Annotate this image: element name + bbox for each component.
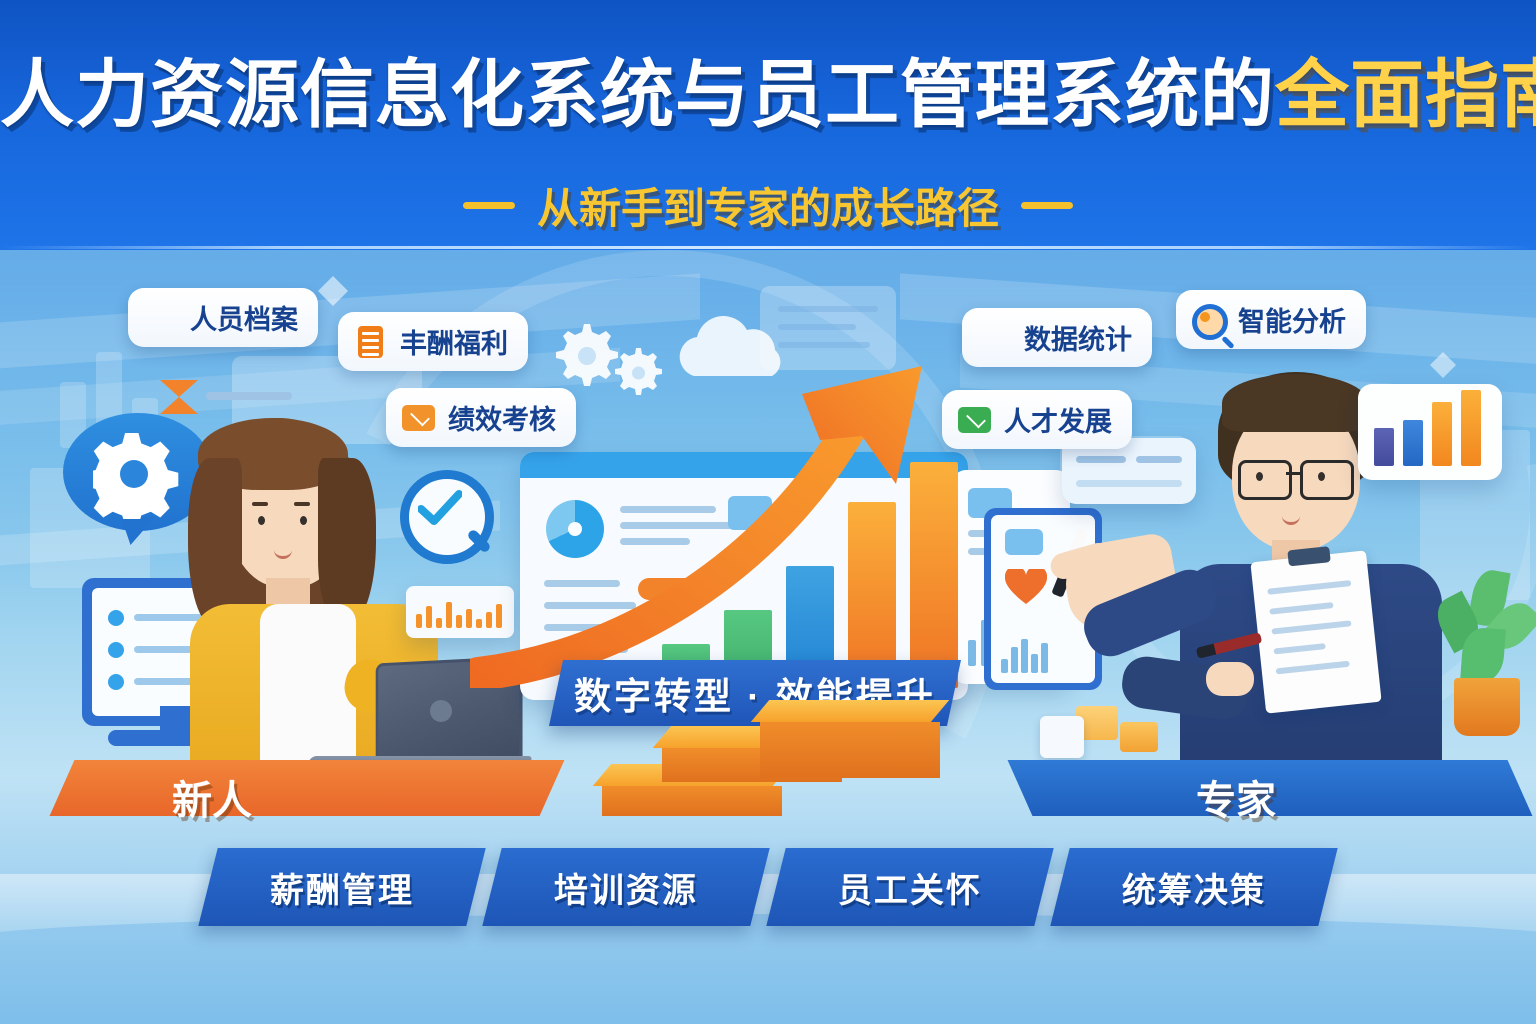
glasses-bridge	[1286, 472, 1300, 475]
badge-personnel-file[interactable]: 人员档案	[128, 288, 318, 347]
glasses-right	[1300, 460, 1354, 500]
hand	[1206, 662, 1254, 696]
header-divider	[0, 246, 1536, 249]
title-block: 人力资源信息化系统与员工管理系统的全面指南	[0, 58, 1536, 132]
floor-band	[0, 914, 1536, 1024]
bar	[476, 619, 482, 628]
hair-top	[1222, 374, 1368, 432]
tablet-chart	[1001, 639, 1048, 673]
bar	[1403, 420, 1423, 466]
step-front	[602, 786, 782, 816]
list-dot	[108, 642, 124, 658]
eye	[258, 516, 265, 525]
plant-icon	[1432, 570, 1536, 770]
bottom-tag-row: 薪酬管理 培训资源 员工关怀 统筹决策	[0, 848, 1536, 926]
bg-ghost-line	[778, 306, 878, 312]
check-icon	[418, 490, 462, 528]
glasses-left	[1238, 460, 1292, 500]
tag-strategic-decision[interactable]: 统筹决策	[1050, 848, 1337, 926]
mini-chart-card	[406, 586, 514, 638]
bar	[466, 609, 472, 628]
bar	[426, 606, 432, 628]
check-magnifier-icon	[400, 470, 492, 562]
page-subtitle: 从新手到专家的成长路径	[537, 175, 999, 236]
clipboard-line	[1273, 643, 1325, 654]
list-dot	[108, 674, 124, 690]
bar	[1374, 428, 1394, 466]
tag-label: 员工关怀	[838, 863, 982, 912]
badge-performance[interactable]: 绩效考核	[386, 388, 576, 447]
form-line	[1136, 456, 1182, 463]
badge-label: 人才发展	[1004, 400, 1112, 439]
eye	[1256, 472, 1263, 481]
chart-bar	[910, 462, 958, 688]
step-front	[760, 722, 940, 778]
tablet-chip	[1005, 529, 1043, 555]
dash-left-decor	[463, 202, 515, 209]
badge-label: 丰酬福利	[400, 322, 508, 361]
building-icon	[352, 324, 388, 360]
bar	[968, 640, 976, 666]
step-top	[751, 700, 949, 722]
bar	[1001, 659, 1008, 673]
bg-ghost-line	[778, 342, 870, 348]
novice-platform	[50, 760, 565, 816]
puzzle-icon	[1040, 716, 1084, 758]
pie-chart-icon	[546, 500, 604, 558]
badge-smart-analysis[interactable]: 智能分析	[1176, 290, 1366, 349]
bar	[416, 614, 422, 628]
clipboard-line	[1271, 620, 1351, 634]
cube-decor	[1120, 722, 1158, 752]
clipboard-line	[1267, 580, 1351, 595]
bar	[436, 618, 442, 628]
infographic-poster: 人力资源信息化系统与员工管理系统的全面指南 从新手到专家的成长路径	[0, 0, 1536, 1024]
envelope-icon	[956, 402, 992, 438]
envelope-icon	[400, 400, 436, 436]
tag-label: 培训资源	[554, 863, 698, 912]
badge-label: 数据统计	[1024, 318, 1132, 357]
bar	[1432, 402, 1452, 466]
badge-compensation[interactable]: 丰酬福利	[338, 312, 528, 371]
subtitle-row: 从新手到专家的成长路径	[463, 175, 1073, 236]
badge-statistics[interactable]: 数据统计	[962, 308, 1152, 367]
mini-chart-bars	[416, 602, 502, 628]
bar	[1461, 390, 1481, 466]
plant-pot	[1454, 678, 1520, 736]
tag-training-resources[interactable]: 培训资源	[482, 848, 769, 926]
person-icon	[142, 300, 178, 336]
bar	[496, 604, 502, 628]
bar	[1021, 639, 1028, 673]
tag-label: 统筹决策	[1122, 863, 1266, 912]
page-title: 人力资源信息化系统与员工管理系统的全面指南	[0, 58, 1536, 132]
laptop-logo	[430, 700, 452, 722]
tag-employee-care[interactable]: 员工关怀	[766, 848, 1053, 926]
badge-talent-development[interactable]: 人才发展	[942, 390, 1132, 449]
bar	[456, 615, 462, 628]
title-highlight-text: 全面指南	[1275, 53, 1536, 136]
badge-label: 绩效考核	[448, 398, 556, 437]
bar	[1011, 647, 1018, 673]
staircase-step	[760, 700, 940, 722]
eye	[1318, 472, 1325, 481]
clipboard-icon	[1250, 550, 1381, 713]
form-line	[1076, 456, 1126, 463]
bar	[1041, 643, 1048, 673]
badge-label: 人员档案	[190, 298, 298, 337]
hair-side	[318, 458, 376, 626]
eye	[300, 516, 307, 525]
bar	[1031, 654, 1038, 673]
side-chart-bars	[1374, 390, 1481, 466]
tag-salary-management[interactable]: 薪酬管理	[198, 848, 485, 926]
eyebrow	[294, 502, 310, 506]
badge-label: 智能分析	[1238, 300, 1346, 339]
bg-ghost-line	[778, 324, 856, 330]
novice-label: 新人	[172, 768, 252, 826]
clipboard-clip	[1287, 546, 1330, 566]
eyebrow	[252, 502, 268, 506]
title-main-text: 人力资源信息化系统与员工管理系统的	[0, 53, 1275, 136]
person-icon	[976, 320, 1012, 356]
side-chart-card	[1358, 384, 1502, 480]
magnifier-icon	[1190, 302, 1226, 338]
dash-right-decor	[1021, 202, 1073, 209]
growth-bar-chart	[600, 450, 958, 688]
form-line	[1076, 480, 1182, 487]
clipboard-line	[1276, 661, 1350, 675]
list-dot	[108, 610, 124, 626]
subtitle-block: 从新手到专家的成长路径	[0, 175, 1536, 236]
tag-label: 薪酬管理	[270, 863, 414, 912]
heart-icon	[1005, 569, 1047, 605]
bar	[446, 602, 452, 628]
dots-line	[206, 392, 292, 400]
expert-label: 专家	[1196, 768, 1276, 826]
bar	[486, 612, 492, 628]
hair-side	[188, 458, 242, 628]
clipboard-line	[1269, 602, 1333, 615]
